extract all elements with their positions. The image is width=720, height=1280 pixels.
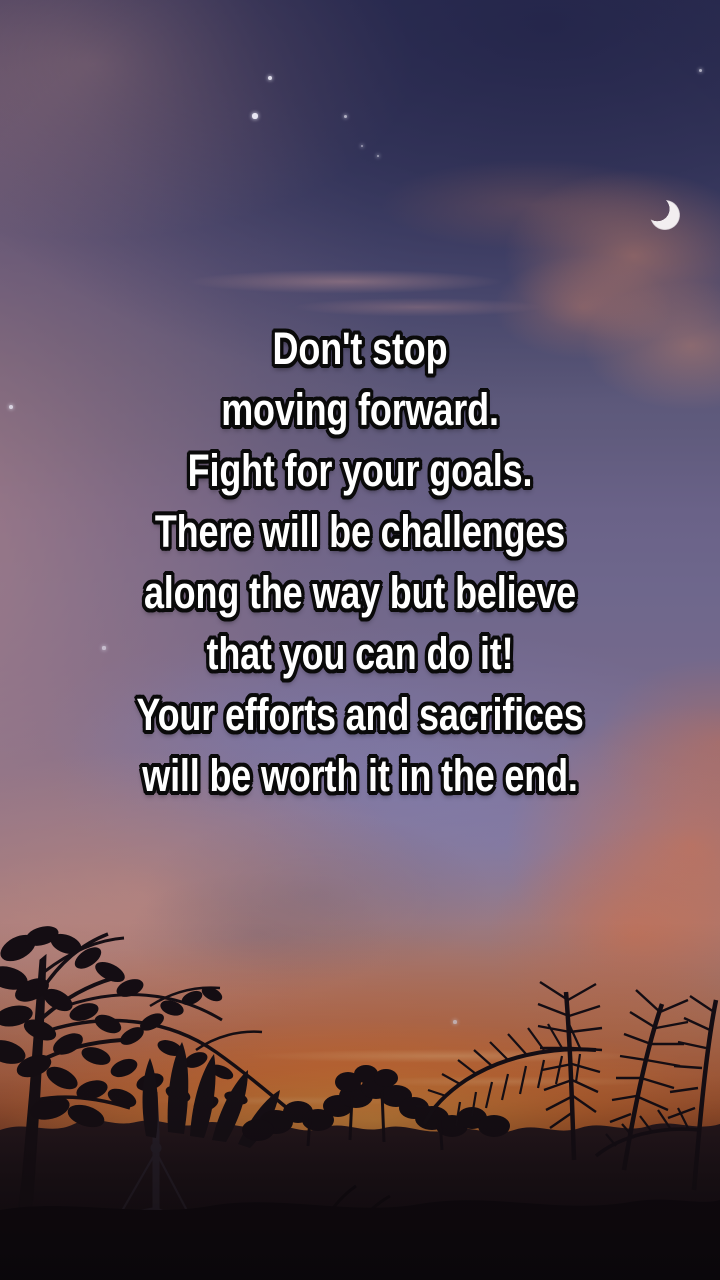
quote-line-3: Fight for your goals. <box>72 440 648 501</box>
quote-line-6: that you can do it! <box>72 623 648 684</box>
quote-line-8: will be worth it in the end. <box>72 745 648 806</box>
quote-line-1: Don't stop <box>72 318 648 379</box>
wallpaper-canvas: Don't stop moving forward. Fight for you… <box>0 0 720 1280</box>
quote-text-block: Don't stop moving forward. Fight for you… <box>0 318 720 806</box>
quote-line-7: Your efforts and sacrifices <box>72 684 648 745</box>
quote-line-4: There will be challenges <box>72 501 648 562</box>
quote-line-2: moving forward. <box>72 379 648 440</box>
quote-line-5: along the way but believe <box>72 562 648 623</box>
